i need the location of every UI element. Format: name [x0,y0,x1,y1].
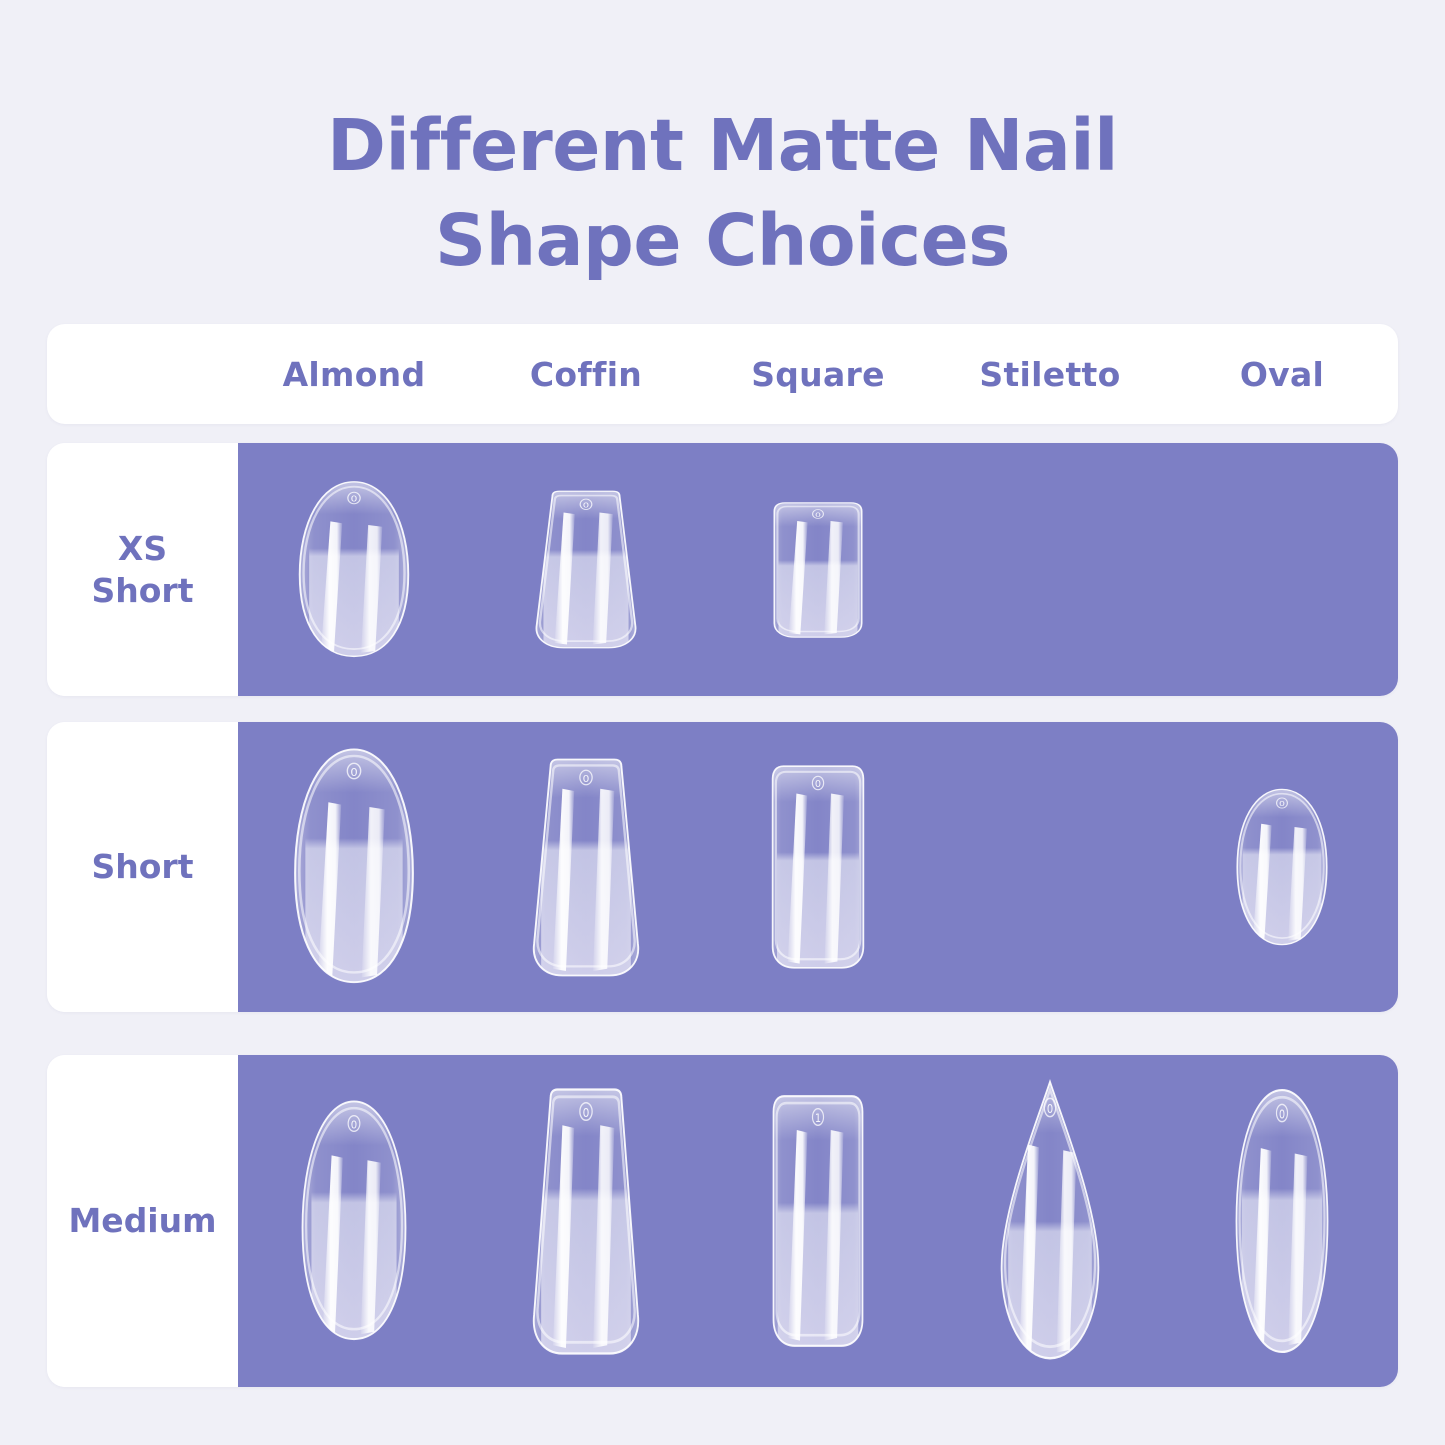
nail-cell-square[interactable]: 0 [702,722,934,1012]
nail-shape-svg: 0 [530,488,642,651]
column-header-label: Oval [1240,355,1324,394]
nail-cell-coffin[interactable]: 0 [470,1055,702,1387]
column-header-label: Stiletto [979,355,1120,394]
nail-shape-svg: 0 [527,755,645,980]
nail-tip-almond[interactable]: 0 [298,1099,410,1344]
column-header-coffin[interactable]: Coffin [470,324,702,424]
nail-tip-stiletto[interactable]: 0 [995,1079,1105,1364]
nail-tip-coffin[interactable]: 0 [527,755,645,980]
nail-tip-almond[interactable]: 0 [295,480,413,660]
nail-cell-oval[interactable]: 0 [1166,722,1398,1012]
nail-body [995,1079,1105,1364]
column-header-square[interactable]: Square [702,324,934,424]
nail-shape-chart-page: Different Matte Nail Shape Choices Almon… [0,0,1445,1445]
page-title-line-1: Different Matte Nail [0,98,1445,193]
nail-cell-almond[interactable]: 0 [238,443,470,696]
nail-cell-almond[interactable]: 0 [238,1055,470,1387]
nail-cell-square[interactable]: 0 [702,443,934,696]
column-header-row: AlmondCoffinSquareStilettoOval [238,324,1398,424]
nail-cell-oval[interactable]: 0 [1166,1055,1398,1387]
svg-text:0: 0 [351,1119,358,1132]
svg-text:0: 0 [583,773,590,785]
svg-text:0: 0 [350,766,357,779]
nail-body [527,1084,645,1359]
nail-tip-almond[interactable]: 0 [290,747,418,987]
column-header-label: Almond [283,355,426,394]
page-title: Different Matte Nail Shape Choices [0,98,1445,288]
svg-text:0: 0 [815,779,821,790]
svg-text:1: 1 [815,1111,821,1125]
nail-body [1229,1086,1335,1356]
size-row: Medium [47,1055,1398,1387]
nail-tip-coffin[interactable]: 0 [530,488,642,651]
size-row: Short [47,722,1398,1012]
nail-shape-svg: 0 [290,747,418,987]
nail-shape-svg: 1 [765,1091,871,1351]
nail-tip-square[interactable]: 0 [766,500,870,640]
nail-shape-svg: 0 [295,480,413,660]
nail-cell-coffin[interactable]: 0 [470,443,702,696]
row-label-cell[interactable]: Medium [47,1055,238,1387]
nail-shape-svg: 0 [298,1099,410,1344]
svg-text:0: 0 [1279,1107,1285,1121]
row-swatch-panel: 0 [238,1055,1398,1387]
nail-shape-svg: 0 [995,1079,1105,1364]
nail-shape-svg: 0 [527,1084,645,1359]
nail-tip-square[interactable]: 0 [764,762,872,972]
nail-tip-square[interactable]: 1 [765,1091,871,1351]
nail-shape-svg: 0 [1229,1086,1335,1356]
nail-shape-svg: 0 [766,500,870,640]
nail-cell-oval [1166,443,1398,696]
nail-tip-oval[interactable]: 0 [1230,787,1334,947]
page-title-line-2: Shape Choices [0,193,1445,288]
column-header-label: Coffin [530,355,642,394]
nail-shape-svg: 0 [764,762,872,972]
column-header-oval[interactable]: Oval [1166,324,1398,424]
nail-cell-stiletto[interactable]: 0 [934,1055,1166,1387]
nail-cell-stiletto [934,443,1166,696]
row-label-cell[interactable]: Short [47,722,238,1012]
column-header-stiletto[interactable]: Stiletto [934,324,1166,424]
nail-cell-square[interactable]: 1 [702,1055,934,1387]
svg-text:0: 0 [351,494,358,503]
nail-body [766,500,870,640]
size-row: XS Short [47,443,1398,696]
column-header-label: Square [751,355,885,394]
svg-text:0: 0 [583,1105,590,1120]
row-label: Medium [68,1200,216,1242]
nail-shape-svg: 0 [1230,787,1334,947]
svg-text:0: 0 [815,511,821,518]
nail-body [764,762,872,972]
nail-body [1230,787,1334,947]
nail-body [530,488,642,651]
svg-text:0: 0 [583,502,590,510]
row-swatch-panel: 0 [238,443,1398,696]
nail-tip-oval[interactable]: 0 [1229,1086,1335,1356]
row-label: Short [92,846,194,888]
row-label-cell[interactable]: XS Short [47,443,238,696]
svg-text:0: 0 [1047,1100,1053,1116]
row-swatch-panel: 0 [238,722,1398,1012]
column-header-almond[interactable]: Almond [238,324,470,424]
row-label: XS Short [92,528,194,612]
column-header-card: AlmondCoffinSquareStilettoOval [47,324,1398,424]
nail-cell-coffin[interactable]: 0 [470,722,702,1012]
nail-cell-stiletto [934,722,1166,1012]
nail-body [765,1091,871,1351]
nail-tip-coffin[interactable]: 0 [527,1084,645,1359]
nail-cell-almond[interactable]: 0 [238,722,470,1012]
svg-text:0: 0 [1279,799,1285,808]
nail-body [527,755,645,980]
